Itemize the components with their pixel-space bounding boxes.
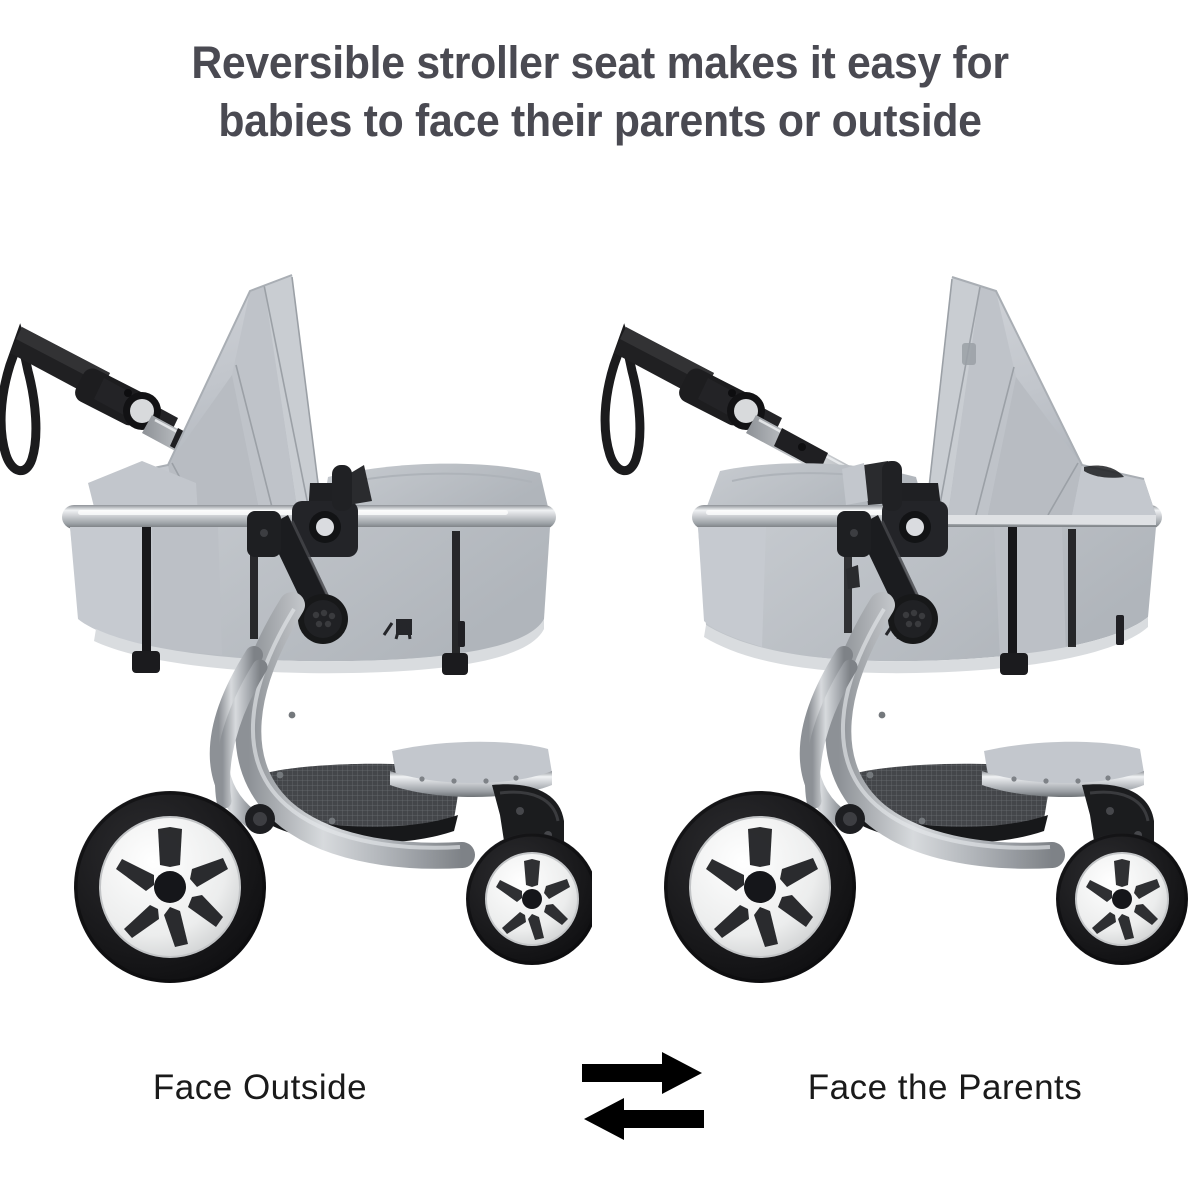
arrow-left-icon [584, 1098, 704, 1140]
front-swivel-wheel [1056, 784, 1188, 965]
page-title: Reversible stroller seat makes it easy f… [30, 34, 1170, 150]
product-stage [0, 215, 1200, 1015]
rear-wheel [664, 791, 856, 983]
product-feature-image: Reversible stroller seat makes it easy f… [0, 0, 1200, 1200]
canopy [926, 277, 1156, 525]
headline-line-1: Reversible stroller seat makes it easy f… [30, 34, 1170, 92]
front-swivel-wheel [466, 784, 592, 965]
right-stroller [596, 215, 1196, 1015]
caption-row: Face Outside Face the Parents [0, 1040, 1200, 1160]
left-stroller [0, 215, 592, 1015]
reversible-arrows [578, 1048, 708, 1148]
rear-wheel [74, 791, 266, 983]
caption-face-outside: Face Outside [0, 1068, 520, 1108]
arrow-right-icon [582, 1052, 702, 1094]
caption-face-the-parents: Face the Parents [690, 1068, 1200, 1108]
headline-line-2: babies to face their parents or outside [30, 92, 1170, 150]
